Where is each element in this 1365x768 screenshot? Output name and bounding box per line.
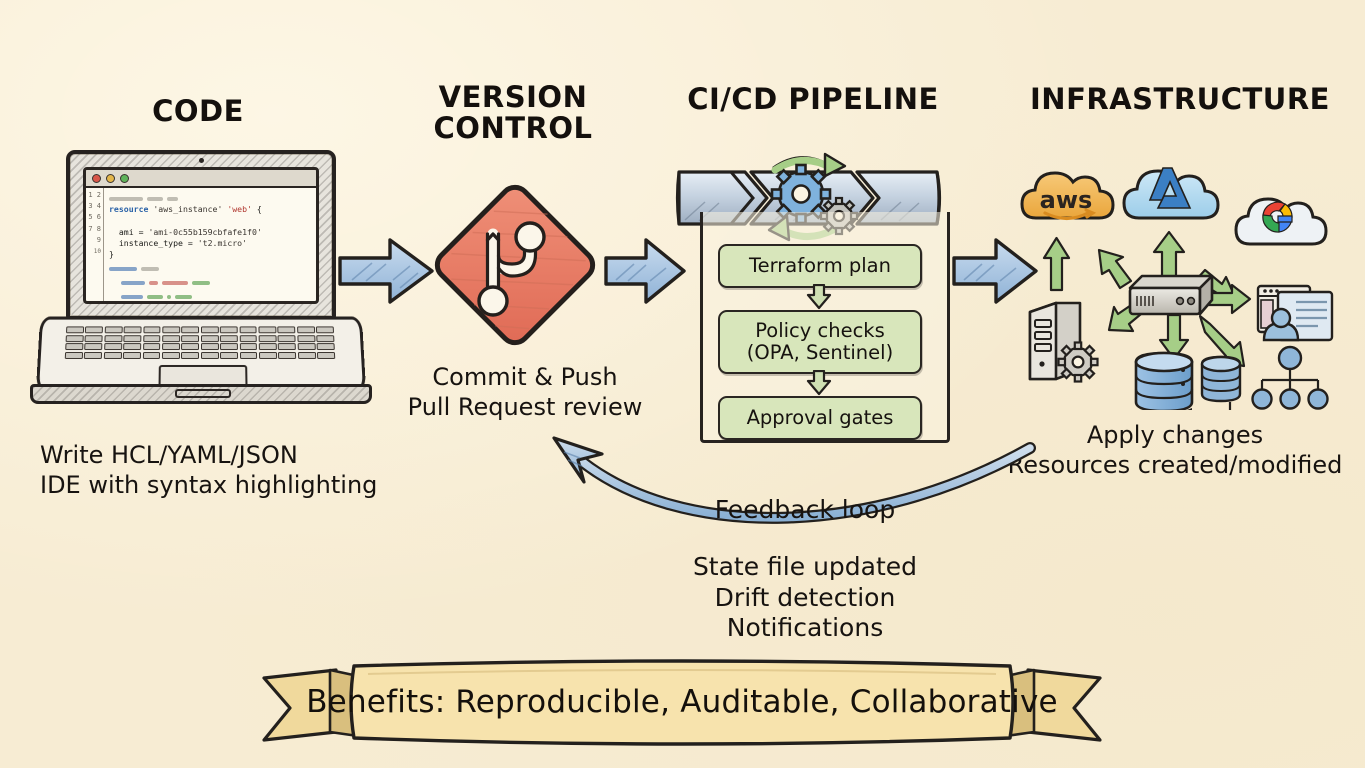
database-stack-icon — [1136, 353, 1192, 410]
code-resource-type: 'aws_instance' — [153, 204, 222, 214]
editor-code[interactable]: resource 'aws_instance' 'web' { ami = 'a… — [104, 188, 316, 301]
laptop-lid: 1 2 3 4 5 6 7 8 9 10 resource 'aws_insta… — [66, 150, 336, 320]
window-maximize-dot[interactable] — [120, 174, 129, 183]
code-key-instance-type: instance_type — [119, 238, 183, 248]
code-value-ami: 'ami-0c55b159cbfafe1f0' — [148, 227, 261, 237]
pipeline-arrow-2 — [806, 370, 832, 396]
azure-cloud-icon — [1124, 168, 1218, 218]
pipeline-stage-policy-checks[interactable]: Policy checks (OPA, Sentinel) — [718, 310, 922, 374]
code-keyword-resource: resource — [109, 204, 148, 214]
keyboard-keys — [65, 326, 335, 359]
code-resource-name: 'web' — [227, 204, 252, 214]
window-minimize-dot[interactable] — [106, 174, 115, 183]
section-title-cicd: CI/CD PIPELINE — [668, 84, 958, 115]
code-blur-line-7 — [109, 260, 316, 274]
feedback-loop-label: Feedback loop — [660, 494, 950, 526]
feedback-loop-details: State file updated Drift detection Notif… — [660, 552, 950, 644]
banner-label: Benefits: Reproducible, Auditable, Colla… — [262, 652, 1102, 757]
code-line-1: resource 'aws_instance' 'web' { — [109, 204, 316, 215]
infrastructure-group: aws — [1000, 140, 1360, 410]
caption-code: Write HCL/YAML/JSON IDE with syntax high… — [40, 440, 430, 500]
aws-label: aws — [1040, 186, 1093, 214]
editor-titlebar — [86, 170, 316, 188]
git-logo-icon — [432, 182, 598, 348]
diagram-canvas: CODE VERSION CONTROL CI/CD PIPELINE INFR… — [0, 0, 1365, 768]
network-tree-icon — [1253, 347, 1328, 409]
code-line-close: } — [109, 249, 316, 260]
benefits-banner: Benefits: Reproducible, Auditable, Colla… — [262, 652, 1102, 757]
editor-line-numbers: 1 2 3 4 5 6 7 8 9 10 — [86, 188, 104, 301]
code-line-blank — [109, 215, 316, 226]
section-title-version-control: VERSION CONTROL — [398, 82, 628, 145]
browser-window-user-icon — [1258, 286, 1332, 340]
code-key-ami: ami — [119, 227, 134, 237]
laptop-keyboard-deck — [36, 317, 366, 393]
code-blur-line-9 — [109, 289, 316, 303]
code-blur-line-8 — [109, 274, 316, 288]
caption-version-control: Commit & Push Pull Request review — [400, 362, 650, 422]
server-router-icon — [1130, 276, 1212, 314]
code-line-ami: ami = 'ami-0c55b159cbfafe1f0' — [109, 227, 316, 238]
section-title-infrastructure: INFRASTRUCTURE — [1010, 84, 1350, 115]
code-value-instance-type: 't2.micro' — [198, 238, 247, 248]
code-close-brace: } — [109, 249, 114, 259]
webcam-icon — [199, 158, 204, 163]
server-tower-gear-icon — [1030, 303, 1098, 382]
laptop-illustration: 1 2 3 4 5 6 7 8 9 10 resource 'aws_insta… — [28, 150, 368, 420]
laptop-front-edge — [30, 384, 372, 404]
gcp-cloud-icon — [1236, 199, 1326, 244]
laptop-base — [28, 308, 368, 400]
aws-cloud-icon: aws — [1022, 173, 1113, 219]
cicd-pipeline-group: Terraform plan Policy checks (OPA, Senti… — [680, 150, 966, 450]
laptop-latch-notch — [175, 389, 231, 398]
section-title-code: CODE — [88, 96, 308, 127]
editor-screen: 1 2 3 4 5 6 7 8 9 10 resource 'aws_insta… — [83, 167, 319, 304]
feedback-loop-arrow — [540, 430, 1060, 550]
code-blur-line-1 — [109, 190, 316, 204]
pipeline-arrow-1 — [806, 284, 832, 310]
code-line-instance-type: instance_type = 't2.micro' — [109, 238, 316, 249]
pipeline-stage-terraform-plan[interactable]: Terraform plan — [718, 244, 922, 288]
arrow-code-to-vcs — [338, 232, 438, 310]
editor-body: 1 2 3 4 5 6 7 8 9 10 resource 'aws_insta… — [86, 188, 316, 301]
window-close-dot[interactable] — [92, 174, 101, 183]
